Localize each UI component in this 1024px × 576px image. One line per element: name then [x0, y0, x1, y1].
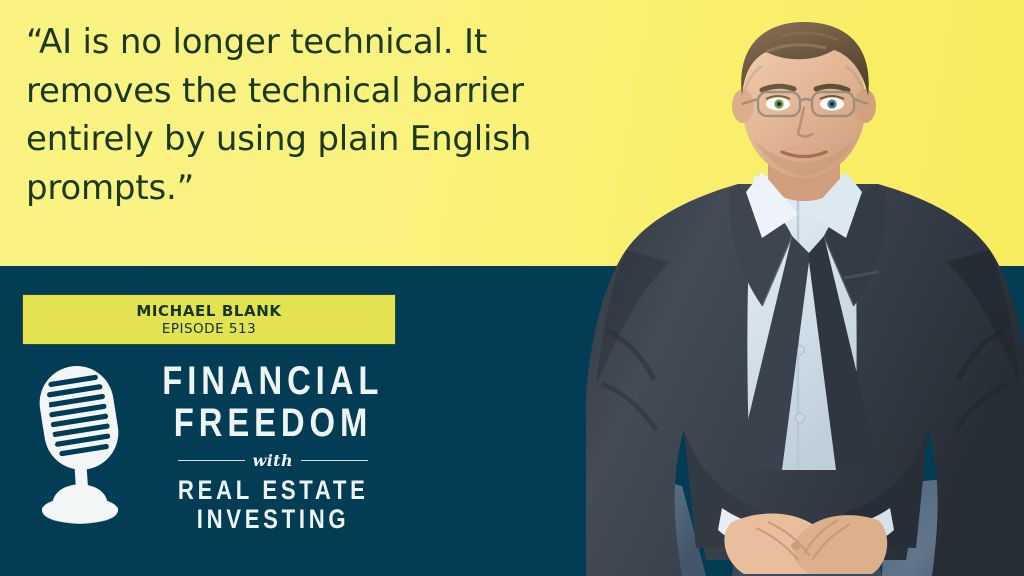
logo-line-financial: FINANCIAL	[162, 362, 383, 401]
quote-text: “AI is no longer technical. It removes t…	[26, 18, 626, 212]
guest-badge: MICHAEL BLANK EPISODE 513	[22, 294, 396, 345]
retro-microphone-icon	[26, 360, 130, 530]
podcast-quote-card: “AI is no longer technical. It removes t…	[0, 0, 1024, 576]
logo-line-freedom: FREEDOM	[174, 403, 372, 444]
episode-number: EPISODE 513	[162, 321, 256, 337]
logo-connector-row: with	[178, 451, 368, 470]
connector-rule-left	[178, 460, 245, 462]
guest-name: MICHAEL BLANK	[136, 302, 281, 320]
guest-portrait-photo	[586, 0, 1024, 576]
logo-wordmark: FINANCIAL FREEDOM with REAL ESTATE INVES…	[138, 356, 408, 534]
podcast-logo: FINANCIAL FREEDOM with REAL ESTATE INVES…	[26, 356, 386, 546]
logo-line-real-estate: REAL ESTATE	[177, 476, 368, 504]
logo-line-investing: INVESTING	[196, 505, 349, 534]
quote-block: “AI is no longer technical. It removes t…	[26, 18, 626, 258]
logo-connector-with: with	[253, 451, 293, 470]
connector-rule-right	[301, 460, 368, 462]
